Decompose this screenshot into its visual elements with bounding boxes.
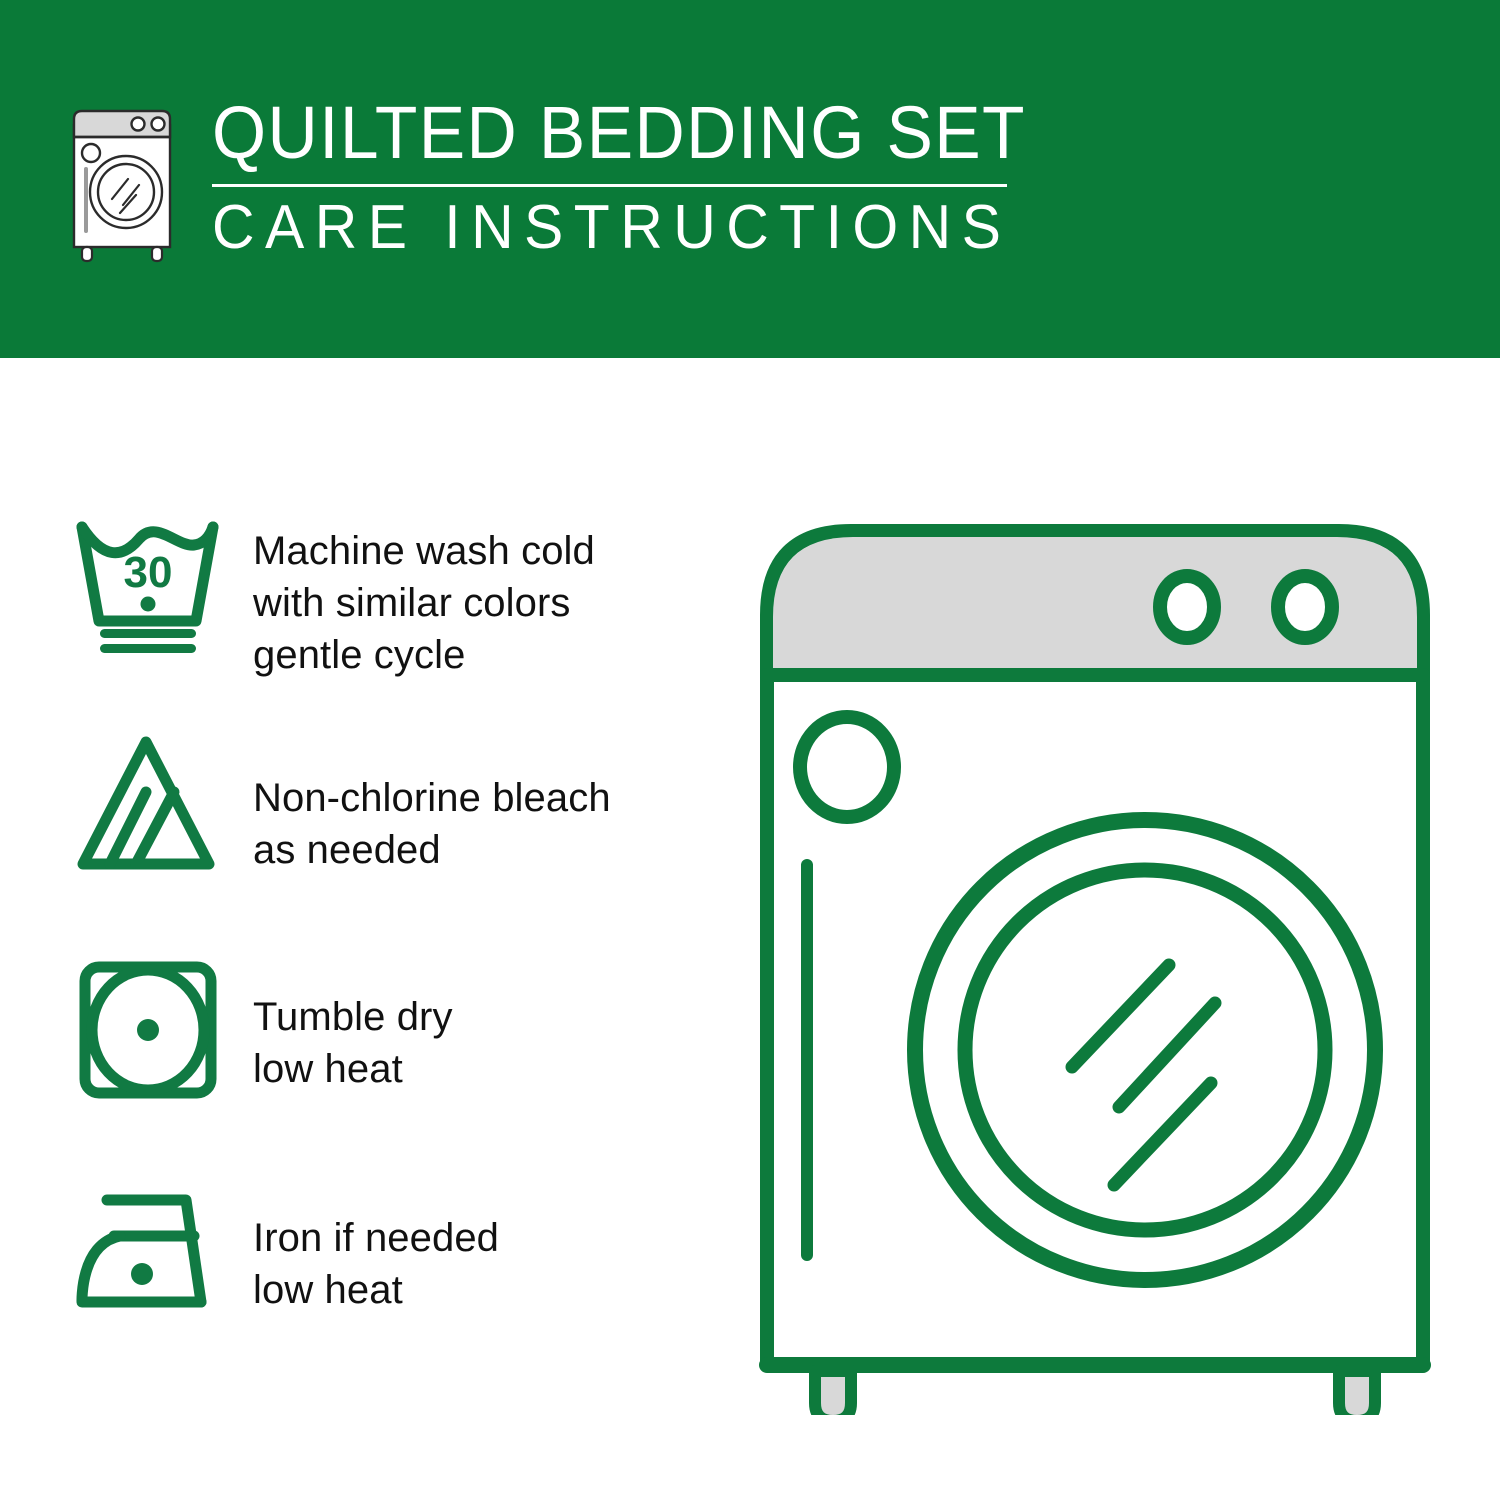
wash-temperature-label: 30 [124, 548, 173, 597]
care-instruction-list: 30 Machine wash cold with similar colors… [70, 505, 710, 1405]
title-divider [212, 184, 1007, 187]
leg-right [1339, 1371, 1375, 1415]
iron-low-icon [70, 1180, 235, 1335]
front-load-washing-machine-illustration [745, 495, 1445, 1415]
triangle-bleach-icon [70, 730, 235, 885]
care-row-iron: Iron if needed low heat [70, 1180, 710, 1405]
page-subtitle: CARE INSTRUCTIONS [212, 197, 1035, 259]
leg-left [815, 1371, 851, 1415]
detergent-port [800, 717, 894, 817]
care-row-bleach: Non-chlorine bleach as needed [70, 730, 710, 955]
care-row-dry: Tumble dry low heat [70, 955, 710, 1180]
care-text-iron: Iron if needed low heat [235, 1180, 710, 1316]
header-titles: QUILTED BEDDING SET CARE INSTRUCTIONS [212, 95, 1078, 259]
knob-left [1160, 576, 1214, 638]
care-text-dry: Tumble dry low heat [235, 955, 710, 1095]
washing-machine-icon [60, 95, 190, 270]
wash-tub-30-icon: 30 [70, 505, 235, 660]
care-row-wash: 30 Machine wash cold with similar colors… [70, 505, 710, 730]
header-content: QUILTED BEDDING SET CARE INSTRUCTIONS [60, 95, 1078, 270]
header-band: QUILTED BEDDING SET CARE INSTRUCTIONS [0, 0, 1500, 358]
knob-right [1278, 576, 1332, 638]
page-title: QUILTED BEDDING SET [212, 97, 1026, 170]
care-text-bleach: Non-chlorine bleach as needed [235, 730, 710, 876]
care-text-wash: Machine wash cold with similar colors ge… [235, 505, 710, 681]
tumble-dry-low-icon [70, 955, 235, 1110]
